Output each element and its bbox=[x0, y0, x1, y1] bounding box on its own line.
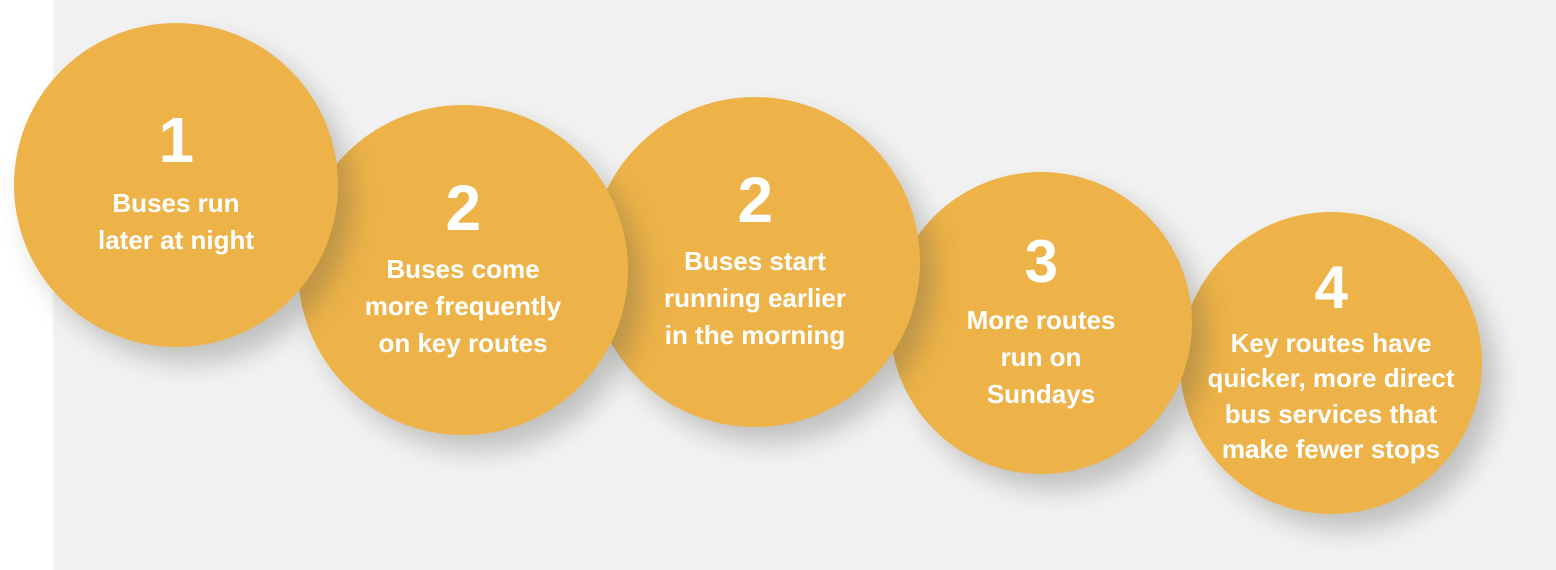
step-circle-4[interactable]: 3 More routes run on Sundays bbox=[890, 172, 1192, 474]
step-text-4: More routes run on Sundays bbox=[967, 302, 1116, 414]
step-number-4: 3 bbox=[1025, 233, 1058, 290]
step-number-1: 1 bbox=[159, 110, 194, 171]
step-text-2: Buses come more frequently on key routes bbox=[365, 251, 562, 363]
step-circle-5[interactable]: 4 Key routes have quicker, more direct b… bbox=[1180, 212, 1482, 514]
infographic-canvas: 1 Buses run later at night 2 Buses come … bbox=[0, 0, 1556, 570]
step-number-5: 4 bbox=[1315, 259, 1348, 316]
step-circle-2[interactable]: 2 Buses come more frequently on key rout… bbox=[298, 105, 628, 435]
step-circle-3[interactable]: 2 Buses start running earlier in the mor… bbox=[590, 97, 920, 427]
step-text-1: Buses run later at night bbox=[98, 185, 254, 259]
step-text-3: Buses start running earlier in the morni… bbox=[664, 243, 846, 355]
step-number-2: 2 bbox=[446, 178, 481, 239]
step-number-3: 2 bbox=[738, 170, 773, 231]
step-text-5: Key routes have quicker, more direct bus… bbox=[1176, 326, 1486, 466]
step-circle-1[interactable]: 1 Buses run later at night bbox=[14, 23, 338, 347]
